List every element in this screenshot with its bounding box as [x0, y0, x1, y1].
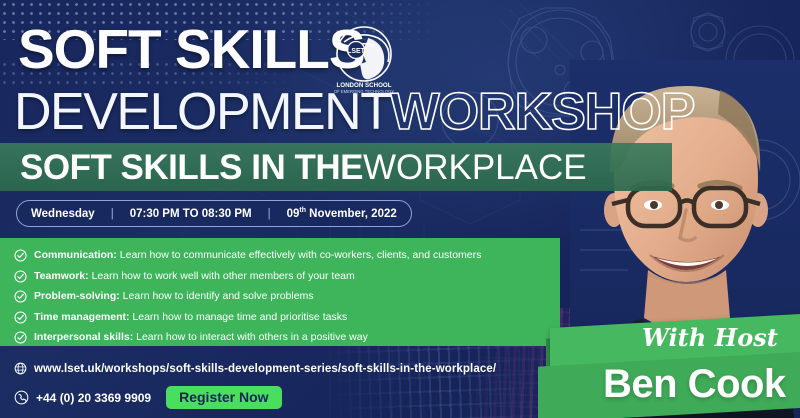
- list-item-term: Communication:: [34, 249, 117, 261]
- benefits-list: Communication: Learn how to communicate …: [0, 238, 560, 346]
- topic-band-text: SOFT SKILLS IN THEWORKPLACE: [20, 150, 587, 185]
- list-item-text: Teamwork: Learn how to work well with ot…: [34, 271, 355, 282]
- list-item-desc: Learn how to manage time and prioritise …: [130, 311, 348, 323]
- schedule-pill: Wednesday | 07:30 PM TO 08:30 PM | 09th …: [16, 200, 412, 227]
- list-item-text: Problem-solving: Learn how to identify a…: [34, 291, 314, 302]
- list-item: Time management: Learn how to manage tim…: [14, 308, 560, 327]
- schedule-date-number: 09: [287, 208, 300, 220]
- schedule-separator-1: |: [111, 208, 114, 220]
- page-title-line2: DEVELOPMENT WORKSHOP: [14, 86, 694, 138]
- register-now-button[interactable]: Register Now: [166, 386, 281, 409]
- list-item: Teamwork: Learn how to work well with ot…: [14, 267, 560, 286]
- schedule-day: Wednesday: [31, 208, 95, 220]
- list-item-text: Interpersonal skills: Learn how to inter…: [34, 332, 368, 343]
- website-url-row[interactable]: www.lset.uk/workshops/soft-skills-develo…: [14, 362, 496, 375]
- schedule-time: 07:30 PM TO 08:30 PM: [130, 208, 252, 220]
- phone-number-text: +44 (0) 20 3369 9909: [36, 391, 151, 405]
- check-circle-icon: [14, 270, 27, 283]
- list-item-term: Problem-solving:: [34, 290, 120, 302]
- topic-bold: SOFT SKILLS IN THE: [20, 148, 363, 187]
- schedule-date: 09th November, 2022: [287, 207, 397, 220]
- phone-number-row[interactable]: +44 (0) 20 3369 9909: [14, 390, 151, 405]
- list-item-term: Time management:: [34, 311, 130, 323]
- globe-icon: [14, 362, 27, 375]
- list-item-desc: Learn how to identify and solve problems: [120, 290, 314, 302]
- workshop-promo-banner: SOFT SKILLS LSET LONDON SCHOOL OF EMERGI…: [0, 0, 800, 418]
- page-title-workshop: WORKSHOP: [390, 86, 694, 138]
- check-circle-icon: [14, 249, 27, 262]
- schedule-date-ordinal: th: [299, 207, 306, 214]
- list-item-desc: Learn how to work well with other member…: [89, 270, 355, 282]
- check-circle-icon: [14, 331, 27, 344]
- list-item: Interpersonal skills: Learn how to inter…: [14, 328, 560, 347]
- website-url-text: www.lset.uk/workshops/soft-skills-develo…: [34, 363, 496, 375]
- list-item-desc: Learn how to interact with others in a p…: [133, 331, 368, 343]
- topic-light: WORKPLACE: [363, 148, 587, 187]
- with-host-label: With Host: [642, 323, 778, 352]
- page-title-line1: SOFT SKILLS: [18, 22, 365, 77]
- list-item-term: Interpersonal skills:: [34, 331, 133, 343]
- check-circle-icon: [14, 311, 27, 324]
- list-item: Problem-solving: Learn how to identify a…: [14, 287, 560, 306]
- phone-icon: [14, 390, 29, 405]
- svg-text:LSET: LSET: [347, 48, 366, 55]
- host-name: Ben Cook: [603, 362, 786, 407]
- topic-band: SOFT SKILLS IN THEWORKPLACE: [0, 143, 672, 191]
- list-item-text: Communication: Learn how to communicate …: [34, 250, 481, 261]
- list-item-text: Time management: Learn how to manage tim…: [34, 312, 347, 323]
- schedule-separator-2: |: [268, 208, 271, 220]
- page-title-development: DEVELOPMENT: [14, 86, 390, 138]
- schedule-date-month-year: November, 2022: [306, 208, 397, 220]
- list-item-term: Teamwork:: [34, 270, 89, 282]
- check-circle-icon: [14, 290, 27, 303]
- list-item-desc: Learn how to communicate effectively wit…: [117, 249, 482, 261]
- contact-row: +44 (0) 20 3369 9909 Register Now: [14, 386, 282, 409]
- list-item: Communication: Learn how to communicate …: [14, 246, 560, 265]
